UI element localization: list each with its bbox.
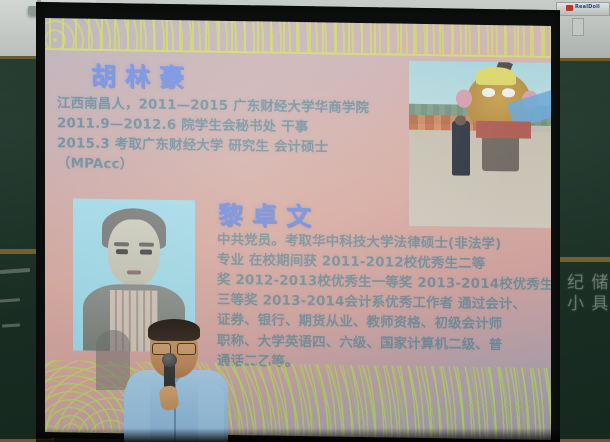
- profile-1-event-photo: [409, 61, 551, 228]
- photo-statue-sign: [476, 121, 531, 138]
- chalk-mark: [0, 268, 30, 274]
- presenter-hair: [148, 319, 200, 341]
- device-logo-icon: [566, 5, 573, 11]
- glasses-icon: [152, 343, 196, 353]
- presenter-hand: [158, 385, 179, 411]
- chalkboard-right: 纪 储 小 具: [552, 58, 610, 442]
- portrait-eyebrow-right: [139, 242, 154, 247]
- profile-1-details: 江西南昌人，2011—2015 广东财经大学华商学院 2011.9—2012.6…: [57, 94, 407, 180]
- photo-ground: [409, 130, 551, 228]
- chalkboard-handwriting: 纪 储 小 具: [567, 273, 610, 316]
- profile-2-name: 黎卓文: [218, 196, 320, 234]
- portrait-eyebrow-left: [114, 242, 129, 247]
- chalk-mark: [2, 323, 20, 327]
- photo-mascot-ear-left: [456, 90, 471, 108]
- microphone-head: [162, 353, 177, 367]
- profile-1-line-4: （MPAcc）: [57, 155, 407, 181]
- photo-mascot-eye-right: [502, 89, 514, 97]
- profile-1-name: 胡林豪: [91, 57, 193, 95]
- portrait-eye-right: [140, 250, 152, 255]
- device-brand-label: RealDoll: [575, 4, 600, 10]
- chalk-mark: [0, 298, 20, 303]
- foreground-shadow: [36, 428, 560, 442]
- chalk-rail-right: [555, 257, 610, 262]
- classroom-scene: RealDoll 纪 储 小 具 胡林豪 江西南昌人，2011—2015 广东财…: [0, 0, 610, 442]
- profile-2-details: 中共党员。考取华中科技大学法律硕士(非法学) 专业 在校期间获 2011-201…: [217, 231, 551, 377]
- photo-mascot-eye-left: [482, 88, 494, 96]
- wall-mounted-box: [572, 18, 584, 36]
- photo-person-head: [455, 116, 466, 126]
- portrait-eye-left: [116, 249, 128, 254]
- presenter-person: [112, 322, 240, 442]
- portrait-mouth: [127, 271, 142, 275]
- photo-mascot-hat: [476, 67, 516, 86]
- photo-standing-person: [452, 121, 470, 176]
